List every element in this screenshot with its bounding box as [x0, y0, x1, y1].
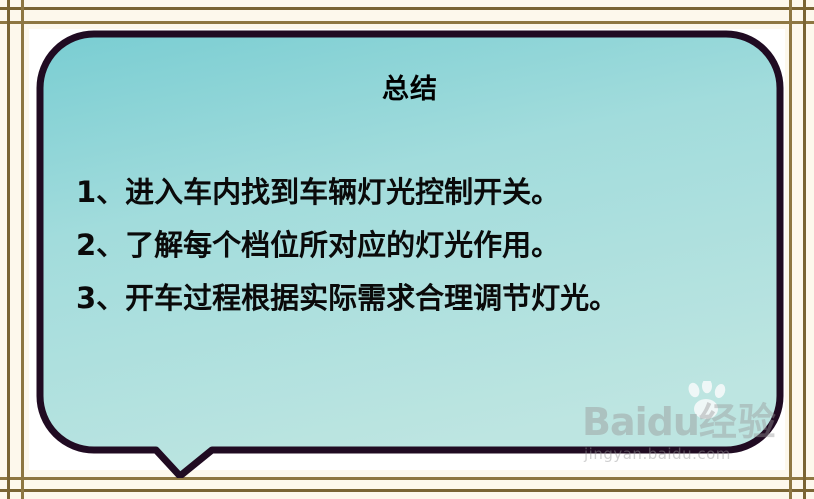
frame-rule-bottom-outer — [0, 489, 814, 492]
frame-rule-left-inner — [21, 0, 24, 499]
frame-rule-right-inner — [789, 0, 792, 499]
frame-rule-top-inner — [0, 21, 814, 24]
slide-canvas: 总结 1、进入车内找到车辆灯光控制开关。 2、了解每个档位所对应的灯光作用。 3… — [0, 0, 814, 499]
list-item: 1、进入车内找到车辆灯光控制开关。 — [76, 166, 766, 219]
list-item: 2、了解每个档位所对应的灯光作用。 — [76, 219, 766, 272]
page-title: 总结 — [36, 76, 784, 103]
list-item: 3、开车过程根据实际需求合理调节灯光。 — [76, 272, 766, 325]
bubble-content: 总结 1、进入车内找到车辆灯光控制开关。 2、了解每个档位所对应的灯光作用。 3… — [36, 30, 784, 450]
speech-bubble: 总结 1、进入车内找到车辆灯光控制开关。 2、了解每个档位所对应的灯光作用。 3… — [36, 30, 784, 478]
frame-rule-right-outer — [803, 0, 806, 499]
summary-list: 1、进入车内找到车辆灯光控制开关。 2、了解每个档位所对应的灯光作用。 3、开车… — [76, 166, 766, 325]
frame-rule-left-outer — [7, 0, 10, 499]
frame-rule-top-outer — [0, 7, 814, 10]
